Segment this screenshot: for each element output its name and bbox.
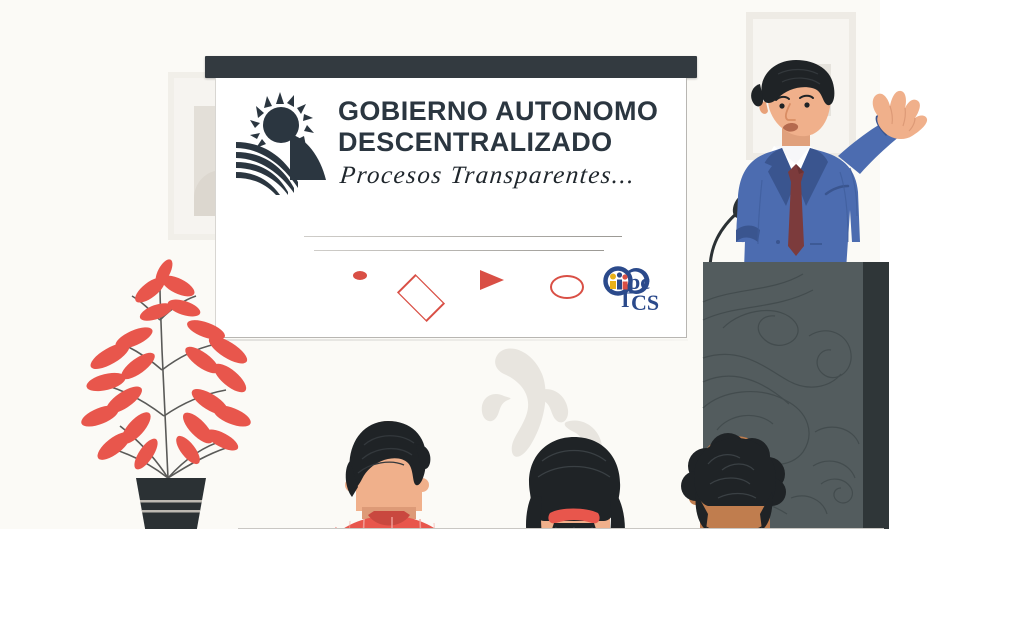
projector-screen-header-bar	[205, 56, 697, 78]
presenter-at-podium	[700, 60, 960, 270]
potted-plant	[80, 250, 260, 540]
slide-shape-small-dot	[353, 271, 367, 280]
cpccs-logo: pc CS I	[601, 263, 671, 318]
slide-divider-top	[304, 236, 622, 237]
slide-shape-ellipse-outline	[550, 275, 584, 299]
sun-and-field-logo	[236, 90, 346, 195]
floor	[0, 529, 1035, 643]
slide-divider-bottom	[314, 250, 604, 251]
slide-shape-triangle-solid	[480, 270, 504, 290]
podium-side-panel	[863, 262, 889, 538]
slide-title-line-2: DESCENTRALIZADO	[338, 127, 678, 158]
illustration-canvas: GOBIERNO AUTONOMO DESCENTRALIZADO Proces…	[0, 0, 1035, 643]
slide-title: GOBIERNO AUTONOMO DESCENTRALIZADO	[338, 96, 678, 158]
svg-text:CS: CS	[631, 290, 659, 315]
svg-text:I: I	[621, 287, 630, 312]
floor-wall-divider	[238, 528, 884, 529]
slide-title-line-1: GOBIERNO AUTONOMO	[338, 96, 678, 127]
slide-shape-diamond-outline	[397, 274, 445, 322]
slide-subtitle: Procesos Transparentes...	[339, 162, 682, 190]
projector-screen[interactable]: GOBIERNO AUTONOMO DESCENTRALIZADO Proces…	[215, 78, 687, 338]
